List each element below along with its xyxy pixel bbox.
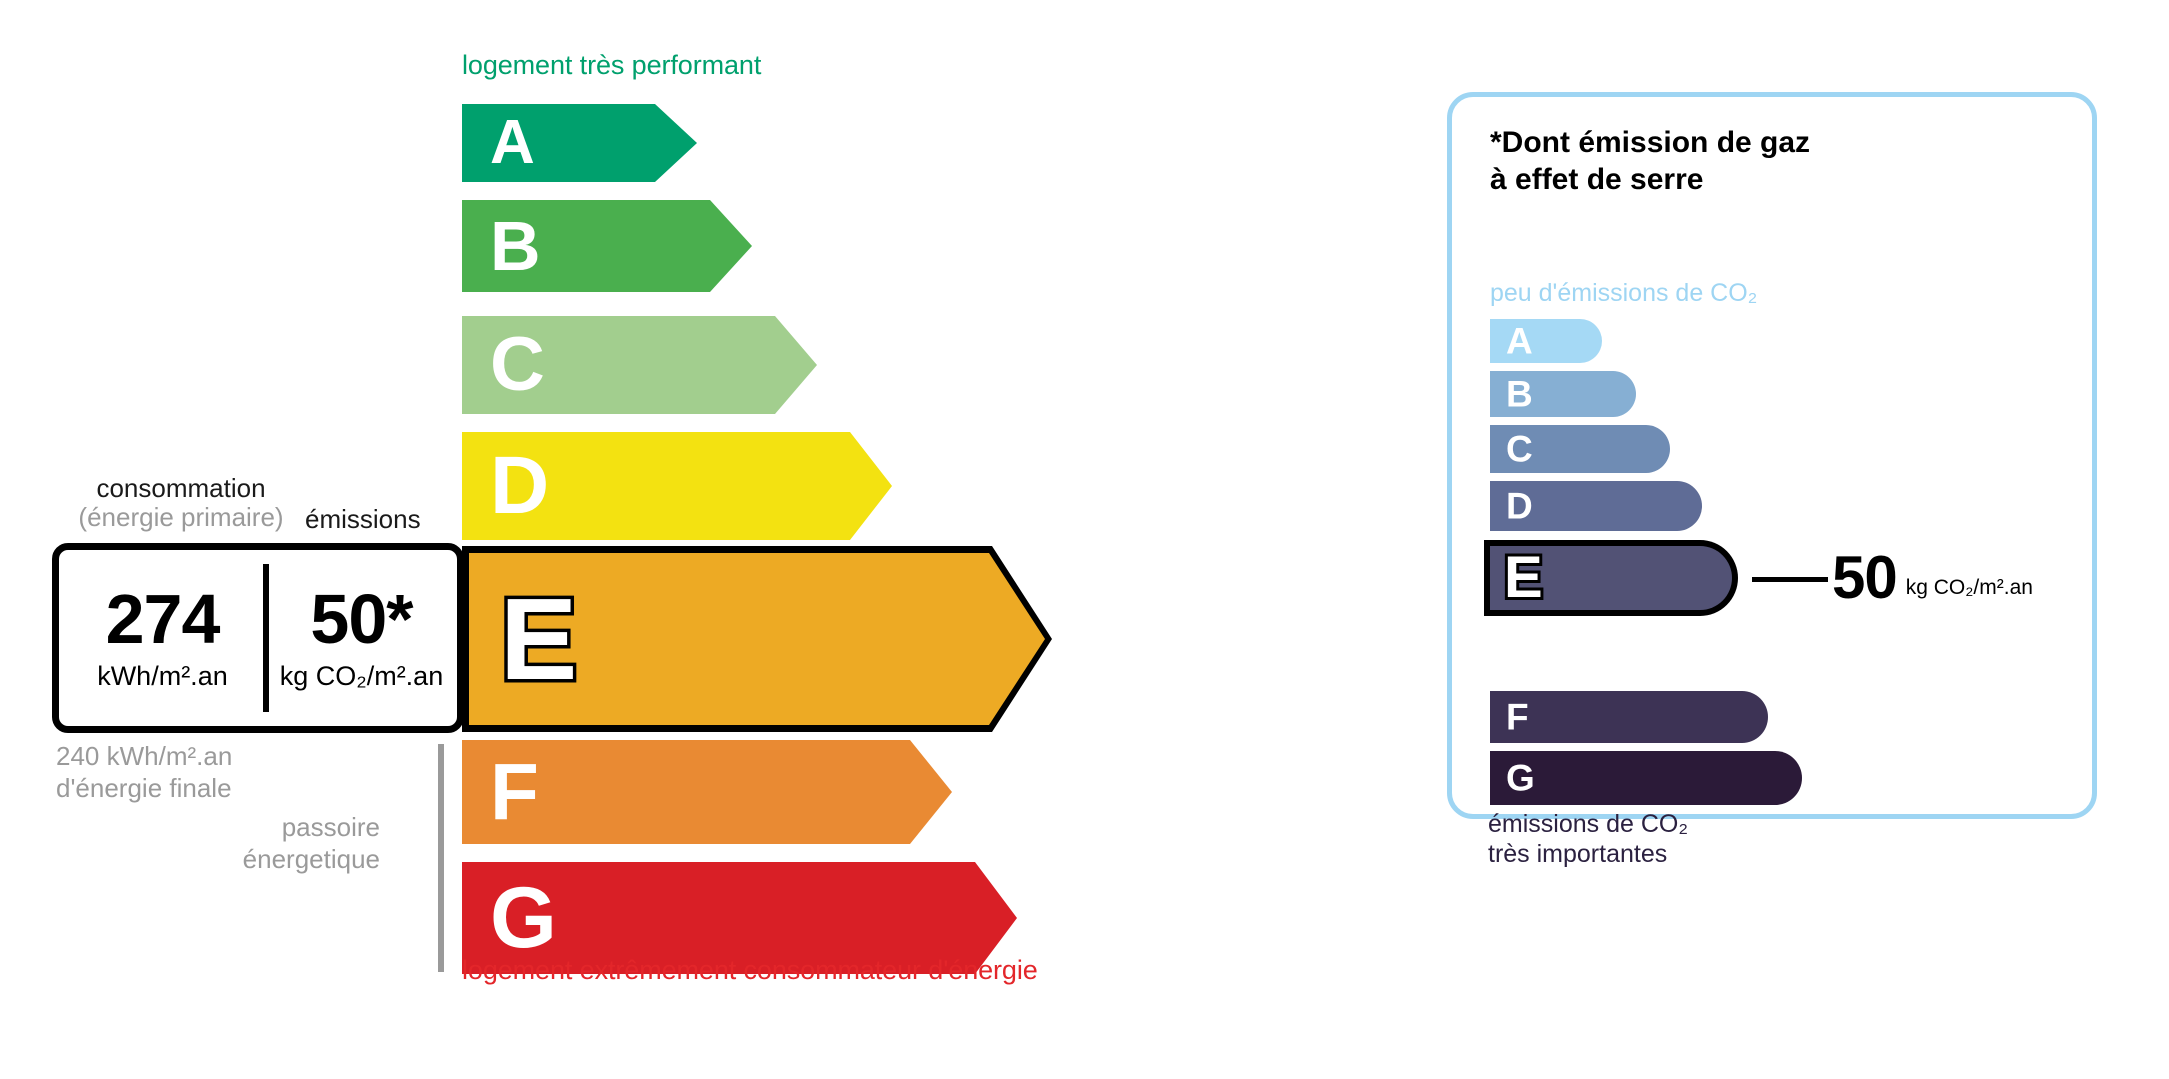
energy-band-e-current: E [462, 546, 1052, 732]
energy-band-d: D [462, 432, 892, 540]
passoire-divider-rule [438, 744, 444, 972]
energy-band-a-letter: A [490, 112, 535, 174]
co2-bar-f: F [1490, 691, 1768, 743]
co2-bar-d-letter: D [1506, 488, 1533, 525]
co2-callout-leader-line [1752, 577, 1828, 582]
energy-band-a: A [462, 104, 697, 182]
emissions-cell: 50* kg CO₂/m².an [266, 550, 457, 726]
co2-bar-d: D [1490, 481, 1702, 531]
scale-caption-top: logement très performant [462, 50, 761, 81]
final-energy-line2: d'énergie finale [56, 773, 232, 805]
energy-performance-scale: logement très performant A B C D E F G l… [0, 0, 1400, 1079]
value-box: 274 kWh/m².an 50* kg CO₂/m².an [52, 543, 464, 733]
co2-panel-title: *Dont émission de gaz à effet de serre [1490, 125, 1810, 198]
energy-band-f-letter: F [490, 752, 539, 832]
passoire-line1: passoire [190, 812, 380, 844]
co2-bar-a: A [1490, 319, 1602, 363]
passoire-label: passoire énergetique [190, 812, 380, 875]
co2-caption-bottom-line1: émissions de CO₂ [1488, 809, 1688, 839]
scale-caption-bottom: logement extrêmement consommateur d'éner… [462, 955, 1038, 986]
primary-energy-unit: kWh/m².an [97, 661, 228, 692]
emissions-value: 50* [310, 584, 412, 654]
co2-bar-a-letter: A [1506, 323, 1533, 360]
final-energy-label: 240 kWh/m².an d'énergie finale [56, 741, 232, 804]
primary-energy-cell: 274 kWh/m².an [59, 550, 266, 726]
co2-callout-unit: kg CO₂/m².an [1906, 576, 2033, 600]
co2-caption-bottom-line2: très importantes [1488, 839, 1688, 869]
co2-callout-value: 50 [1832, 549, 1897, 606]
co2-bar-e-letter: E [1504, 549, 1543, 607]
energy-band-b-letter: B [490, 211, 541, 281]
co2-bar-c-letter: C [1506, 431, 1533, 468]
co2-bar-b: B [1490, 371, 1636, 417]
passoire-line2: énergetique [190, 844, 380, 876]
co2-callout: 50 kg CO₂/m².an [1832, 549, 2033, 606]
co2-bar-c: C [1490, 425, 1670, 473]
energy-band-e-letter: E [500, 581, 577, 697]
co2-panel-title-line1: *Dont émission de gaz [1490, 125, 1810, 162]
energy-band-c: C [462, 316, 817, 414]
co2-bar-g: G [1490, 751, 1802, 805]
co2-bar-e-current: E [1484, 540, 1738, 616]
consumption-label: consommation (énergie primaire) [66, 474, 296, 531]
co2-emissions-panel: *Dont émission de gaz à effet de serre p… [1447, 92, 2097, 819]
energy-band-d-letter: D [490, 445, 549, 527]
co2-caption-bottom: émissions de CO₂ très importantes [1488, 809, 1688, 869]
energy-band-g-letter: G [490, 875, 557, 961]
co2-bar-g-letter: G [1506, 760, 1535, 797]
emissions-label: émissions [305, 504, 421, 535]
final-energy-line1: 240 kWh/m².an [56, 741, 232, 773]
energy-band-b: B [462, 200, 752, 292]
co2-bar-f-letter: F [1506, 699, 1529, 736]
emissions-unit: kg CO₂/m².an [280, 661, 444, 692]
co2-bar-b-letter: B [1506, 376, 1533, 413]
energy-band-c-letter: C [490, 327, 545, 403]
co2-panel-title-line2: à effet de serre [1490, 162, 1810, 199]
consumption-label-main: consommation [96, 473, 265, 503]
energy-band-f: F [462, 740, 952, 844]
co2-caption-top: peu d'émissions de CO₂ [1490, 279, 1757, 308]
primary-energy-value: 274 [106, 584, 220, 654]
consumption-label-sub: (énergie primaire) [66, 503, 296, 532]
